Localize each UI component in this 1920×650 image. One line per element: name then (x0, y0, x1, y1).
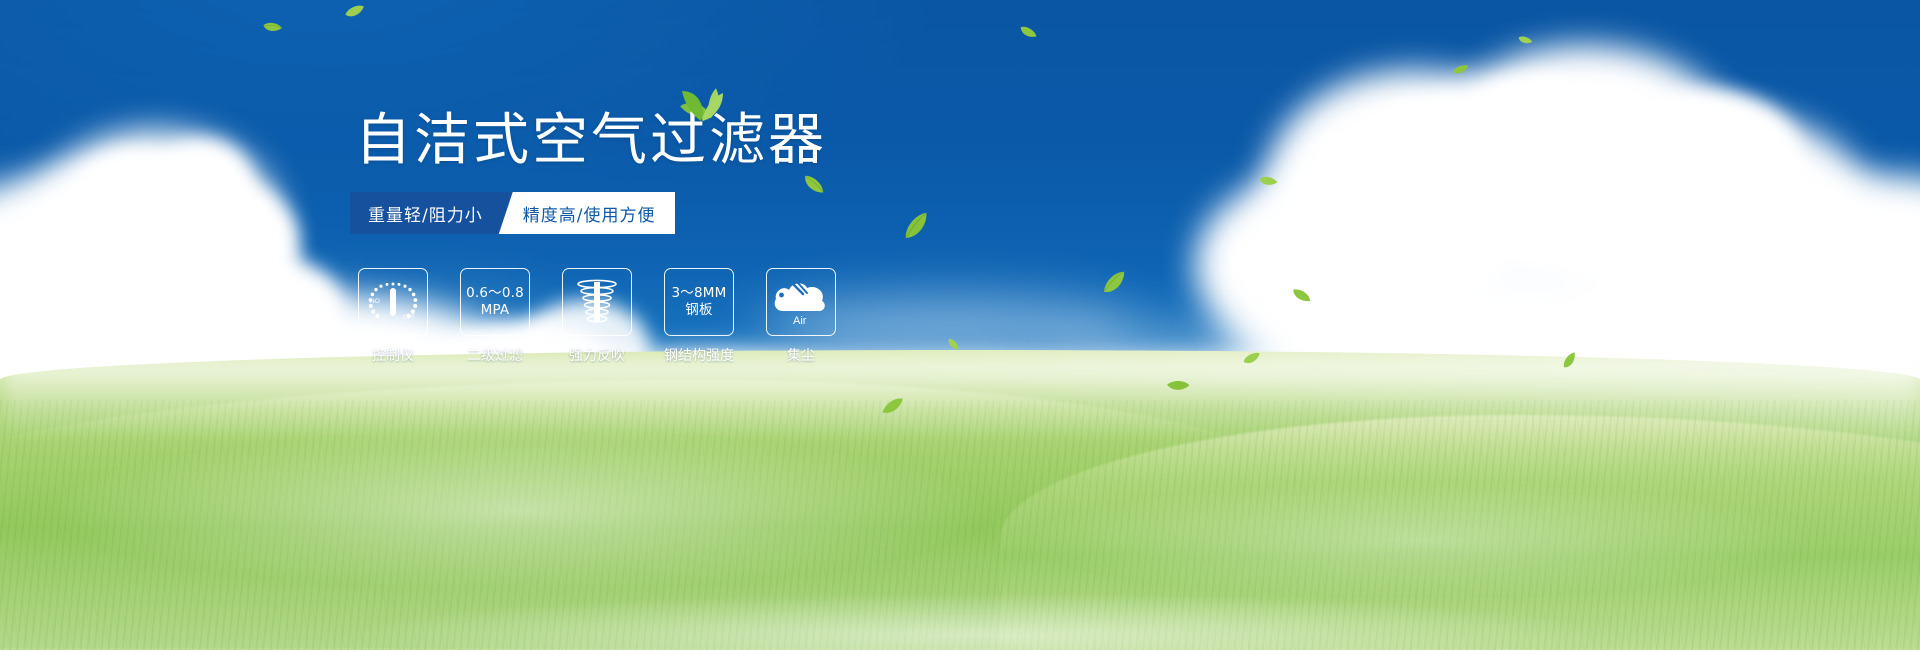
feature-item-strong-backblow[interactable]: 强力反吹 (561, 268, 633, 365)
pressure-text-icon: 0.6～0.8 MPA (466, 285, 524, 319)
feature-label: 控制仪 (372, 345, 414, 365)
air-cloud-icon: Air (772, 277, 830, 327)
steel-plate-text-icon: 3～8MM 钢板 (672, 285, 727, 319)
pressure-unit: MPA (466, 302, 524, 319)
filter-cartridge-icon (573, 276, 621, 328)
dial-label-no: NO (370, 298, 380, 305)
feature-item-secondary-filtration[interactable]: 0.6～0.8 MPA 二级过滤 (459, 268, 531, 365)
feature-label: 强力反吹 (569, 345, 625, 365)
feature-item-steel-strength[interactable]: 3～8MM 钢板 钢结构强度 (663, 268, 735, 365)
tag-label: 重量轻/阻力小 (368, 201, 483, 226)
tag-label: 精度高/使用方便 (523, 201, 656, 226)
banner-stage: 自洁式空气过滤器 重量轻/阻力小 精度高/使用方便 (0, 0, 1920, 650)
feature-item-dust-collection[interactable]: Air 集尘 (765, 268, 837, 365)
dial-label-off: OFF (403, 315, 415, 321)
pressure-range: 0.6～0.8 (466, 285, 524, 302)
air-label: Air (793, 315, 807, 327)
feature-label: 集尘 (787, 345, 815, 365)
steel-material: 钢板 (672, 302, 727, 319)
feature-label: 钢结构强度 (664, 345, 734, 365)
feature-icon-box (562, 268, 632, 336)
tag-precision-convenience[interactable]: 精度高/使用方便 (499, 192, 676, 234)
tag-row: 重量轻/阻力小 精度高/使用方便 (350, 192, 675, 234)
feature-icon-box: NO OFF (358, 268, 428, 336)
dial-switch-icon: NO OFF (365, 276, 421, 328)
tag-lightweight-lowresistance[interactable]: 重量轻/阻力小 (350, 192, 513, 234)
feature-item-controller[interactable]: NO OFF 控制仪 (357, 268, 429, 365)
steel-thickness: 3～8MM (672, 285, 727, 302)
page-title: 自洁式空气过滤器 (355, 113, 827, 169)
feature-label: 二级过滤 (467, 345, 523, 365)
feature-row: NO OFF 控制仪 0.6～0.8 MPA 二级过滤 (357, 268, 837, 365)
banner-content: 自洁式空气过滤器 重量轻/阻力小 精度高/使用方便 (0, 0, 1920, 650)
title-leaf-icon (678, 88, 724, 127)
feature-icon-box: Air (766, 268, 836, 336)
feature-icon-box: 0.6～0.8 MPA (460, 268, 530, 336)
feature-icon-box: 3～8MM 钢板 (664, 268, 734, 336)
